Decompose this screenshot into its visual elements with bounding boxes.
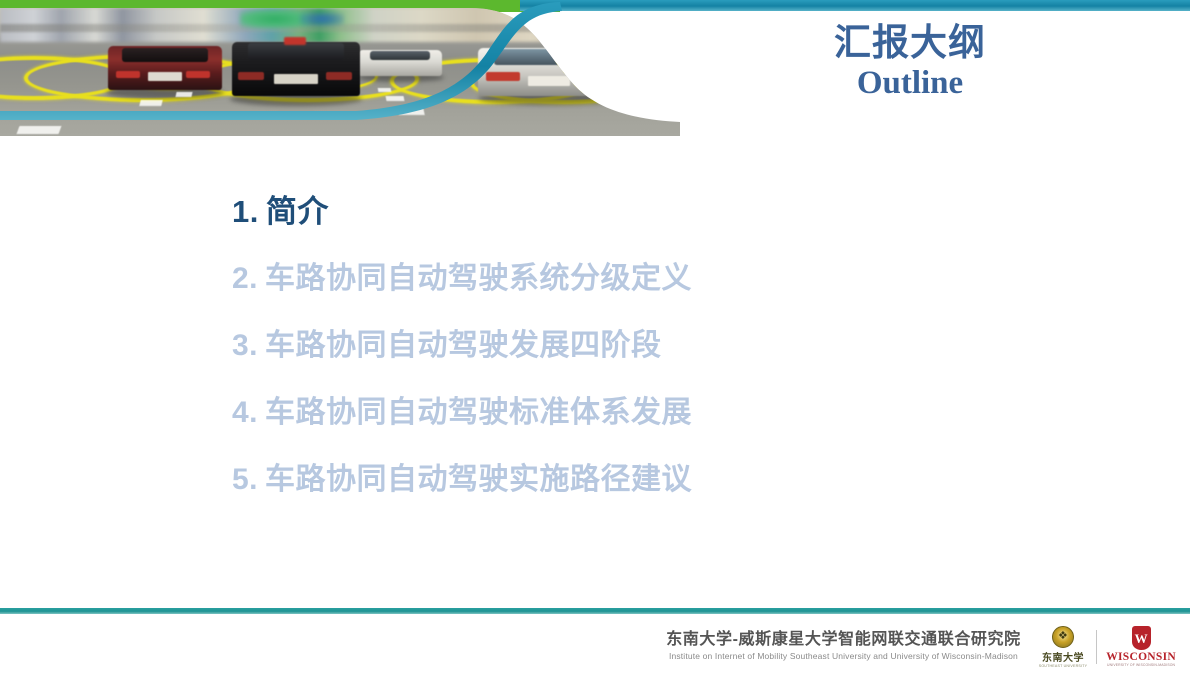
seu-name-english: SOUTHEAST UNIVERSITY [1039, 664, 1087, 668]
outline-item-4[interactable]: 4.车路协同自动驾驶标准体系发展 [232, 398, 1092, 428]
southeast-university-logo: ❖ 东南大学 SOUTHEAST UNIVERSITY [1039, 626, 1087, 668]
outline-item-4-label: 车路协同自动驾驶标准体系发展 [265, 396, 692, 429]
outline-item-1-number: 1. [232, 194, 259, 229]
footer-logos: ❖ 东南大学 SOUTHEAST UNIVERSITY W WISCONSIN … [1039, 626, 1176, 668]
outline-item-5-number: 5. [232, 463, 258, 496]
title-chinese: 汇报大纲 [700, 24, 1120, 63]
slide-canvas: 汇报大纲 Outline 1.简介 2.车路协同自动驾驶系统分级定义 3.车路协… [0, 0, 1190, 673]
slide-title: 汇报大纲 Outline [700, 24, 1120, 103]
outline-item-5[interactable]: 5.车路协同自动驾驶实施路径建议 [232, 465, 1092, 495]
outline-item-2[interactable]: 2.车路协同自动驾驶系统分级定义 [232, 264, 1092, 294]
wisconsin-name: WISCONSIN [1106, 651, 1176, 663]
header-banner: 汇报大纲 Outline [0, 0, 1190, 136]
outline-item-1[interactable]: 1.简介 [232, 196, 1092, 227]
wisconsin-crest-letter: W [1135, 632, 1148, 645]
title-english: Outline [700, 65, 1120, 103]
outline-item-1-label: 简介 [266, 194, 329, 229]
footer-org-chinese: 东南大学-威斯康星大学智能网联交通联合研究院 [666, 631, 1021, 649]
seu-seal-glyph: ❖ [1058, 631, 1068, 642]
outline-item-2-label: 车路协同自动驾驶系统分级定义 [265, 262, 692, 295]
wisconsin-crest-icon: W [1132, 626, 1151, 650]
slide-footer: 东南大学-威斯康星大学智能网联交通联合研究院 Institute on Inte… [0, 620, 1190, 673]
seu-name-chinese: 东南大学 [1042, 649, 1084, 664]
seu-seal-icon: ❖ [1052, 626, 1074, 648]
outline-list: 1.简介 2.车路协同自动驾驶系统分级定义 3.车路协同自动驾驶发展四阶段 4.… [232, 196, 1092, 532]
outline-item-3-number: 3. [232, 329, 258, 362]
outline-item-4-number: 4. [232, 396, 258, 429]
outline-item-3-label: 车路协同自动驾驶发展四阶段 [265, 329, 662, 362]
outline-item-3[interactable]: 3.车路协同自动驾驶发展四阶段 [232, 331, 1092, 361]
wisconsin-subtitle: UNIVERSITY OF WISCONSIN-MADISON [1107, 663, 1175, 667]
wisconsin-logo: W WISCONSIN UNIVERSITY OF WISCONSIN-MADI… [1106, 626, 1176, 667]
outline-item-5-label: 车路协同自动驾驶实施路径建议 [265, 463, 692, 496]
footer-org-english: Institute on Internet of Mobility Southe… [666, 651, 1021, 662]
logo-divider [1096, 630, 1097, 664]
outline-item-2-number: 2. [232, 262, 258, 295]
footer-organization: 东南大学-威斯康星大学智能网联交通联合研究院 Institute on Inte… [666, 631, 1021, 661]
footer-divider-rule [0, 608, 1190, 614]
